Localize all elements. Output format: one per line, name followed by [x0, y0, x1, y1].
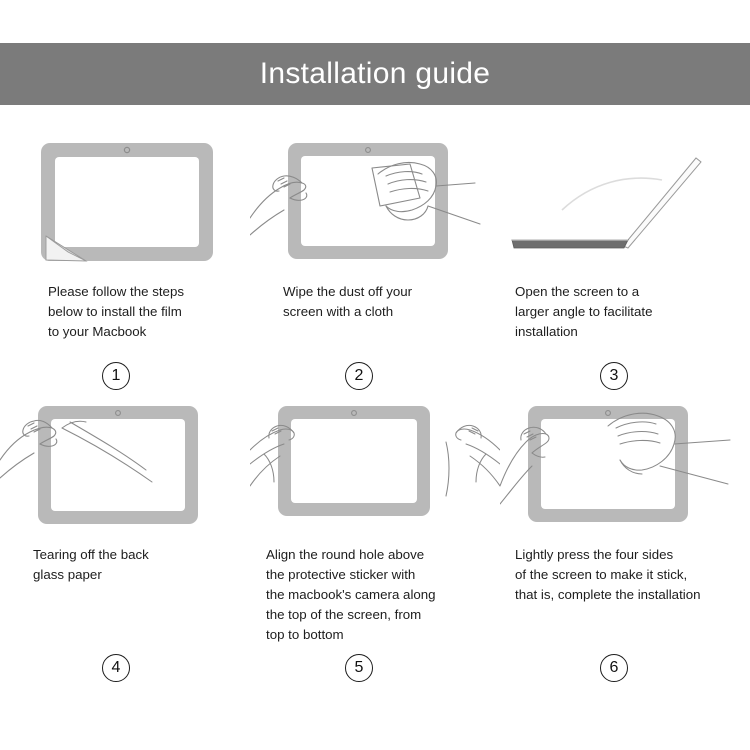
step-2-number: 2: [355, 368, 364, 384]
step-card-1: Please follow the steps below to install…: [0, 140, 250, 400]
step-5-illustration: [250, 400, 490, 535]
step-3-illustration: [500, 140, 740, 268]
hand-peeling-back-paper-icon: [0, 400, 250, 535]
step-4-illustration: [0, 400, 240, 535]
hands-pressing-screen-edges-icon: [500, 400, 750, 535]
step-card-4: Tearing off the back glass paper 4: [0, 400, 250, 690]
two-hands-aligning-film-on-screen-icon: [250, 400, 500, 535]
step-6-illustration: [500, 400, 740, 535]
step-2-number-badge: 2: [345, 362, 373, 390]
step-5-number-badge: 5: [345, 654, 373, 682]
step-2-illustration: [250, 140, 490, 268]
step-4-text: Tearing off the back glass paper: [33, 545, 240, 585]
step-6-text: Lightly press the four sides of the scre…: [515, 545, 740, 605]
step-1-number-badge: 1: [102, 362, 130, 390]
step-card-5: Align the round hole above the protectiv…: [250, 400, 500, 690]
page-title: Installation guide: [260, 59, 491, 89]
step-3-text: Open the screen to a larger angle to fac…: [515, 282, 740, 342]
installation-guide-page: Installation guide Please follow the ste…: [0, 0, 750, 750]
hands-wiping-screen-with-cloth-icon: [250, 140, 500, 268]
step-1-number: 1: [112, 368, 121, 384]
tablet-with-peeling-film-corner-icon: [38, 140, 218, 268]
steps-grid: Please follow the steps below to install…: [0, 140, 750, 690]
step-4-number-badge: 4: [102, 654, 130, 682]
step-3-number-badge: 3: [600, 362, 628, 390]
step-card-3: Open the screen to a larger angle to fac…: [500, 140, 750, 400]
step-2-text: Wipe the dust off your screen with a clo…: [283, 282, 490, 322]
step-6-number: 6: [610, 660, 619, 676]
step-1-illustration: [38, 140, 240, 268]
step-card-6: Lightly press the four sides of the scre…: [500, 400, 750, 690]
step-5-number: 5: [355, 660, 364, 676]
step-5-text: Align the round hole above the protectiv…: [266, 545, 490, 645]
step-4-number: 4: [112, 660, 121, 676]
step-card-2: Wipe the dust off your screen with a clo…: [250, 140, 500, 400]
laptop-side-view-opening-angle-icon: [500, 140, 750, 268]
header-banner: Installation guide: [0, 43, 750, 105]
step-3-number: 3: [610, 368, 619, 384]
step-1-text: Please follow the steps below to install…: [48, 282, 240, 342]
step-6-number-badge: 6: [600, 654, 628, 682]
